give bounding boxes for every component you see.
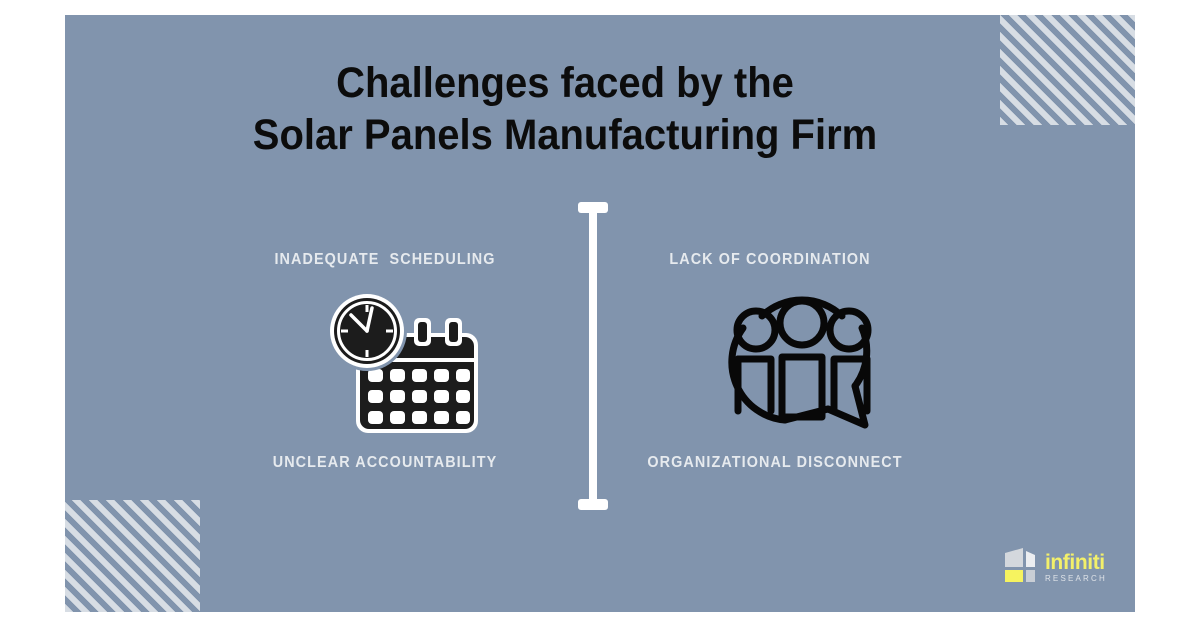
quadrant-label-inadequate-scheduling: INADEQUATE SCHEDULING: [237, 251, 534, 269]
diagonal-stripes-decoration-bottom-left: [65, 500, 200, 612]
divider-cap-bottom: [578, 499, 608, 510]
calendar-clock-icon: [310, 287, 492, 442]
quadrant-label-organizational-disconnect: ORGANIZATIONAL DISCONNECT: [622, 454, 928, 472]
screenshot-canvas: Challenges faced by the Solar Panels Man…: [0, 0, 1200, 627]
people-group-speech-bubble-icon: [723, 287, 883, 442]
clock-glyph: [327, 291, 407, 371]
infiniti-research-logo: infiniti RESEARCH: [1004, 547, 1107, 588]
infiniti-logo-wordmark: infiniti: [1045, 552, 1107, 573]
quadrant-label-lack-of-coordination: LACK OF COORDINATION: [622, 251, 919, 269]
slide-title: Challenges faced by the Solar Panels Man…: [100, 57, 1030, 161]
i-beam-divider: [578, 202, 608, 510]
divider-bar: [589, 202, 597, 510]
infiniti-logo-mark: [1004, 547, 1038, 588]
slide-title-line-2: Solar Panels Manufacturing Firm: [100, 109, 1030, 161]
presentation-slide: Challenges faced by the Solar Panels Man…: [65, 15, 1135, 612]
quadrant-label-unclear-accountability: UNCLEAR ACCOUNTABILITY: [237, 454, 534, 472]
infiniti-logo-subtext: RESEARCH: [1045, 575, 1107, 583]
slide-title-line-1: Challenges faced by the: [100, 57, 1030, 109]
